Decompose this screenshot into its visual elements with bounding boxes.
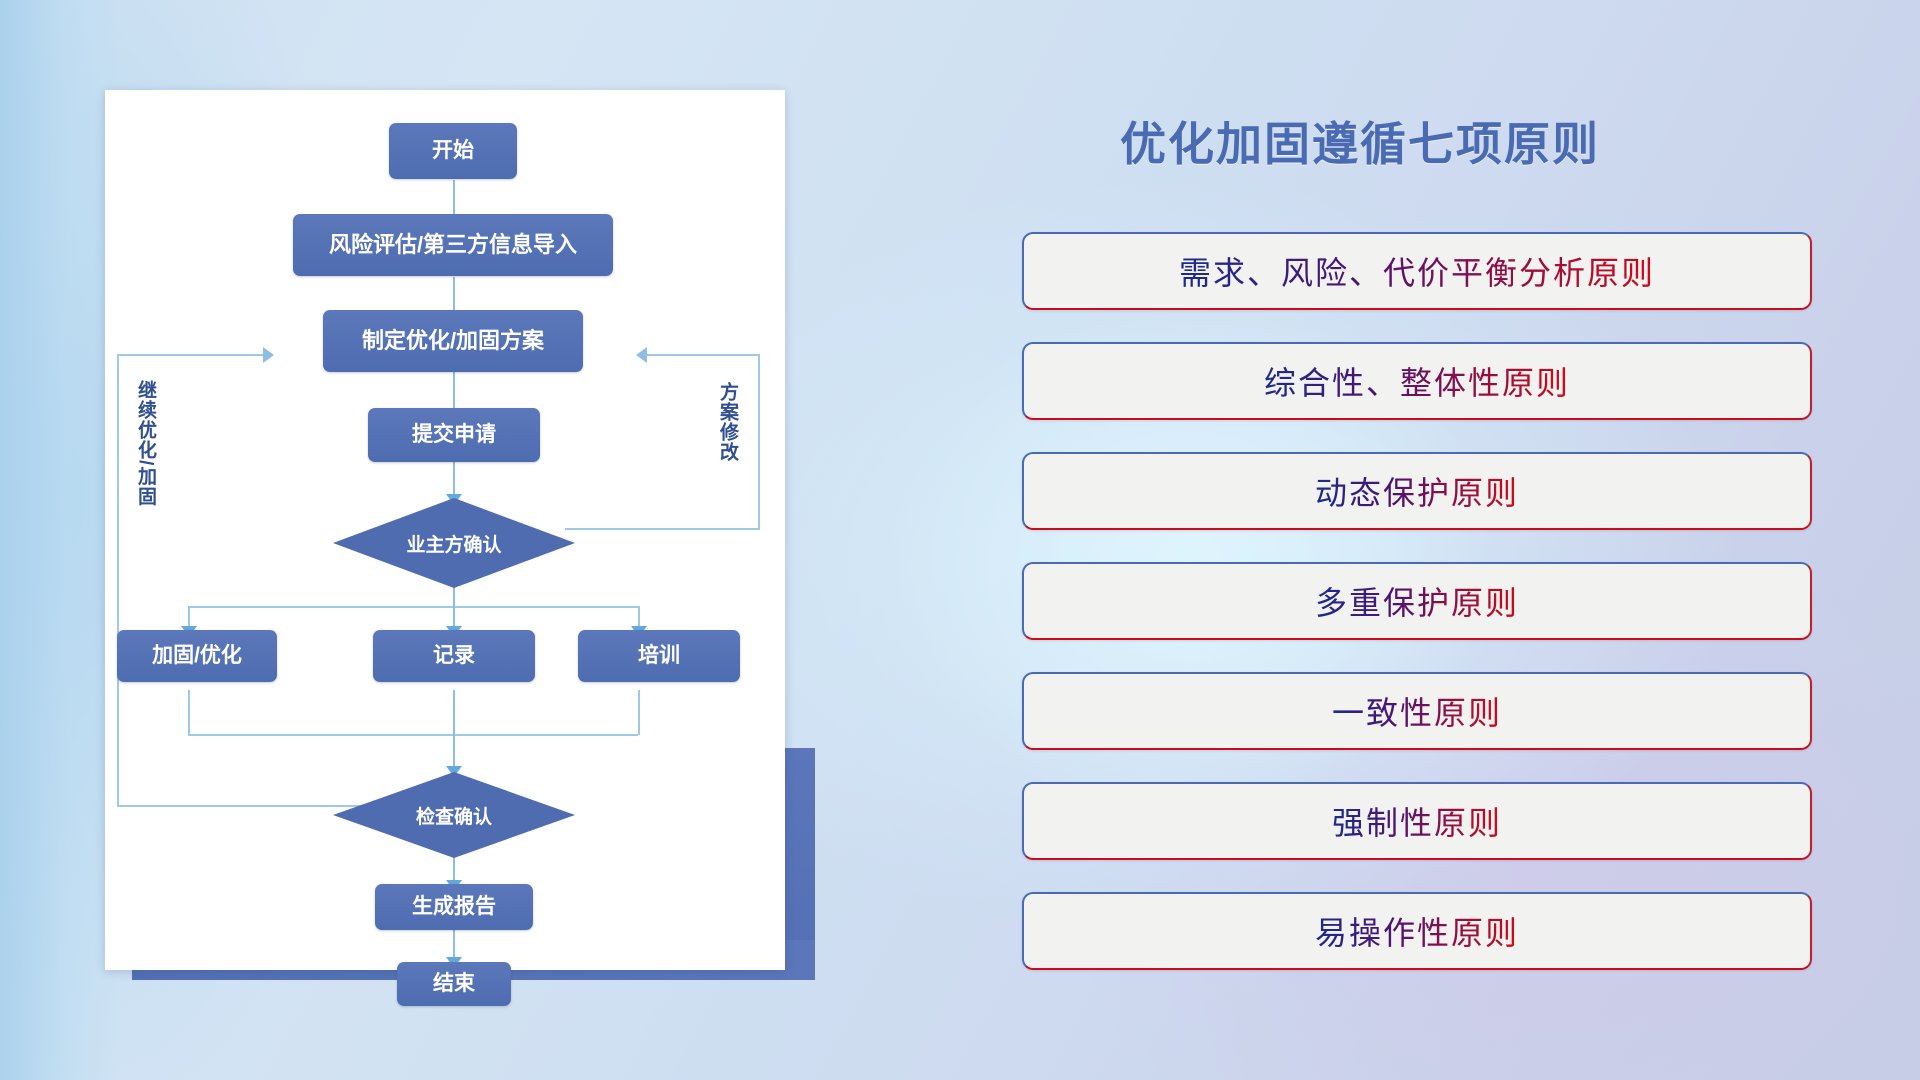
arrowhead-loop-right-into-plan <box>636 347 647 363</box>
principle-card-5-label: 一致性原则 <box>1332 688 1502 734</box>
principle-card-1[interactable]: 需求、风险、代价平衡分析原则 <box>1022 232 1812 310</box>
connector-owner-loop-into-plan <box>645 354 760 356</box>
principle-card-3-label: 动态保护原则 <box>1315 468 1519 514</box>
connector-check-loop-left <box>117 805 387 807</box>
flow-node-risk-assessment-label: 风险评估/第三方信息导入 <box>329 233 577 257</box>
flow-node-start[interactable]: 开始 <box>389 123 517 179</box>
flow-node-record[interactable]: 记录 <box>373 630 535 682</box>
panel-title: 优化加固遵循七项原则 <box>1000 108 1720 174</box>
flow-decision-check-confirm-label: 检查确认 <box>416 802 492 829</box>
connector-training-down <box>638 690 640 735</box>
principle-card-6-label: 强制性原则 <box>1332 798 1502 844</box>
flow-node-end[interactable]: 结束 <box>397 962 511 1006</box>
flow-decision-owner-confirm[interactable]: 业主方确认 <box>333 498 575 588</box>
principle-card-7[interactable]: 易操作性原则 <box>1022 892 1812 970</box>
flow-node-plan[interactable]: 制定优化/加固方案 <box>323 310 583 372</box>
connector-merge-bus <box>188 734 638 736</box>
flow-node-start-label: 开始 <box>432 139 474 162</box>
connector-record-to-check <box>453 690 455 772</box>
flow-edge-label-continue-optimize: 继续优化/加固 <box>135 380 155 550</box>
flow-node-record-label: 记录 <box>433 644 475 667</box>
flow-decision-owner-confirm-label: 业主方确认 <box>406 530 501 557</box>
connector-owner-loop-up <box>758 354 760 529</box>
connector-check-loop-up <box>117 354 119 807</box>
flow-node-report[interactable]: 生成报告 <box>375 884 533 930</box>
flow-node-submit[interactable]: 提交申请 <box>368 408 540 462</box>
principle-card-7-label: 易操作性原则 <box>1315 908 1519 954</box>
principle-card-4[interactable]: 多重保护原则 <box>1022 562 1812 640</box>
principle-card-4-label: 多重保护原则 <box>1315 578 1519 624</box>
flowchart-diagram: 开始 风险评估/第三方信息导入 制定优化/加固方案 提交申请 业主方确认 加固/… <box>105 90 785 970</box>
flow-node-training[interactable]: 培训 <box>578 630 740 682</box>
flow-node-submit-label: 提交申请 <box>412 423 496 446</box>
principles-list: 需求、风险、代价平衡分析原则 综合性、整体性原则 动态保护原则 多重保护原则 一… <box>1022 232 1812 1002</box>
flow-node-reinforce[interactable]: 加固/优化 <box>117 630 277 682</box>
principle-card-3[interactable]: 动态保护原则 <box>1022 452 1812 530</box>
principle-card-5[interactable]: 一致性原则 <box>1022 672 1812 750</box>
flow-decision-check-confirm[interactable]: 检查确认 <box>333 772 575 858</box>
connector-split-bus <box>188 606 638 608</box>
connector-reinforce-down <box>188 690 190 735</box>
left-gradient-band <box>0 0 120 1080</box>
arrowhead-loop-left-into-plan <box>263 347 274 363</box>
flow-edge-label-plan-revise: 方案修改 <box>717 382 737 512</box>
slide-canvas: 开始 风险评估/第三方信息导入 制定优化/加固方案 提交申请 业主方确认 加固/… <box>0 0 1920 1080</box>
principle-card-2[interactable]: 综合性、整体性原则 <box>1022 342 1812 420</box>
principle-card-2-label: 综合性、整体性原则 <box>1264 358 1570 404</box>
flow-node-risk-assessment[interactable]: 风险评估/第三方信息导入 <box>293 214 613 276</box>
flow-node-end-label: 结束 <box>433 972 475 995</box>
principle-card-1-label: 需求、风险、代价平衡分析原则 <box>1179 248 1655 294</box>
flow-node-plan-label: 制定优化/加固方案 <box>362 329 544 353</box>
connector-owner-loop-right <box>565 528 760 530</box>
flowchart-card: 开始 风险评估/第三方信息导入 制定优化/加固方案 提交申请 业主方确认 加固/… <box>105 90 785 970</box>
flow-node-reinforce-label: 加固/优化 <box>152 644 242 667</box>
flow-node-training-label: 培训 <box>638 644 680 667</box>
connector-check-loop-into-plan <box>117 354 272 356</box>
flow-node-report-label: 生成报告 <box>412 895 496 918</box>
principle-card-6[interactable]: 强制性原则 <box>1022 782 1812 860</box>
